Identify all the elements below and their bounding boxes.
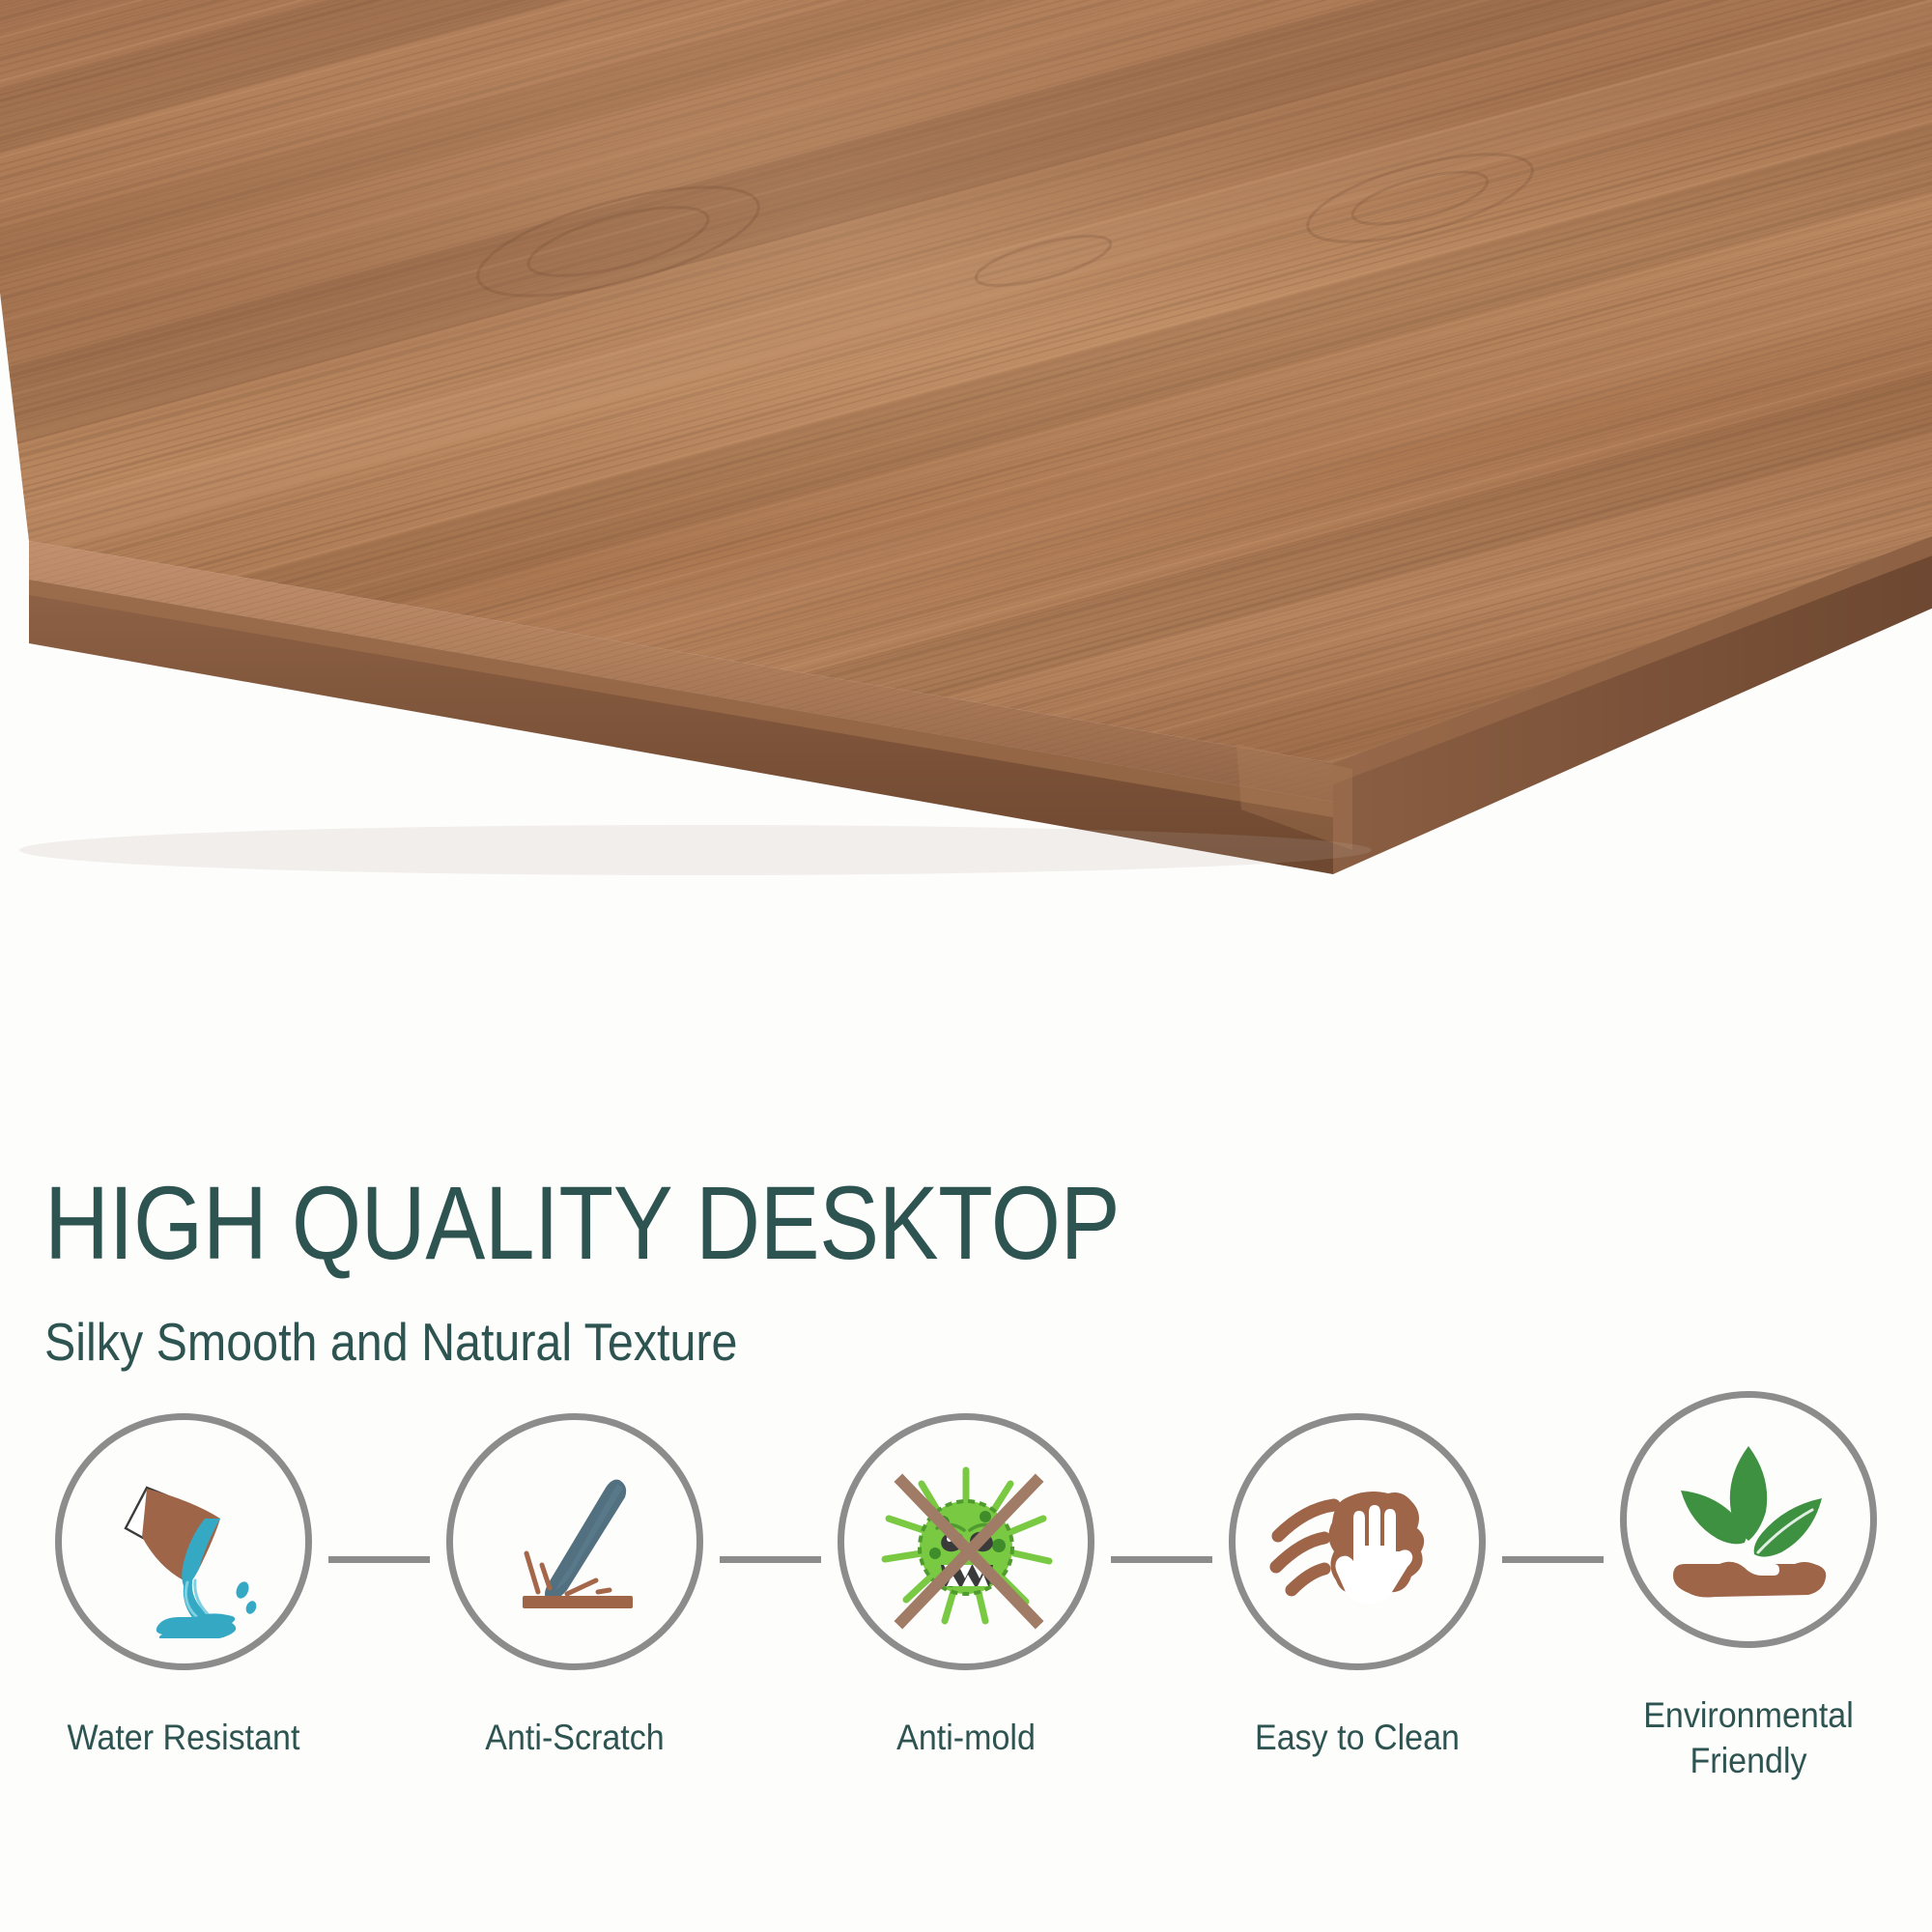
connector-line-2 <box>720 1556 821 1563</box>
connector-line-1 <box>328 1556 430 1563</box>
feature-environmental-friendly[interactable]: Environmental Friendly <box>1604 1391 1893 1784</box>
feature-circle <box>446 1413 703 1670</box>
bucket-pouring-water-icon <box>87 1445 280 1638</box>
hand-wiping-cloth-icon <box>1261 1445 1454 1638</box>
page-title: HIGH QUALITY DESKTOP <box>44 1171 1623 1275</box>
feature-highlights: Water Resistant Anti-Scratch <box>0 1418 1932 1920</box>
feature-label: Anti-Scratch <box>428 1715 722 1760</box>
feature-easy-to-clean[interactable]: Easy to Clean <box>1212 1413 1502 1760</box>
feature-circle <box>1620 1391 1877 1648</box>
connector-line-4 <box>1502 1556 1604 1563</box>
product-hero-image <box>0 0 1932 976</box>
heading-block: HIGH QUALITY DESKTOP Silky Smooth and Na… <box>44 1171 1880 1369</box>
feature-anti-mold[interactable]: Anti-mold <box>821 1413 1111 1760</box>
feature-label: Anti-mold <box>819 1715 1113 1760</box>
feature-water-resistant[interactable]: Water Resistant <box>39 1413 328 1760</box>
feature-label: Environmental Friendly <box>1602 1692 1895 1784</box>
feature-track: Water Resistant Anti-Scratch <box>39 1418 1893 1756</box>
feature-circle <box>55 1413 312 1670</box>
walnut-desktop-illustration <box>0 0 1932 976</box>
crossed-out-germ-icon <box>869 1445 1063 1638</box>
hand-holding-leaves-icon <box>1652 1423 1845 1616</box>
feature-label: Easy to Clean <box>1210 1715 1504 1760</box>
page-subtitle: Silky Smooth and Natural Texture <box>44 1316 1660 1369</box>
feature-circle <box>1229 1413 1486 1670</box>
feature-label: Water Resistant <box>37 1715 330 1760</box>
feature-circle <box>838 1413 1094 1670</box>
connector-line-3 <box>1111 1556 1212 1563</box>
knife-scratch-surface-icon <box>478 1445 671 1638</box>
feature-anti-scratch[interactable]: Anti-Scratch <box>430 1413 720 1760</box>
